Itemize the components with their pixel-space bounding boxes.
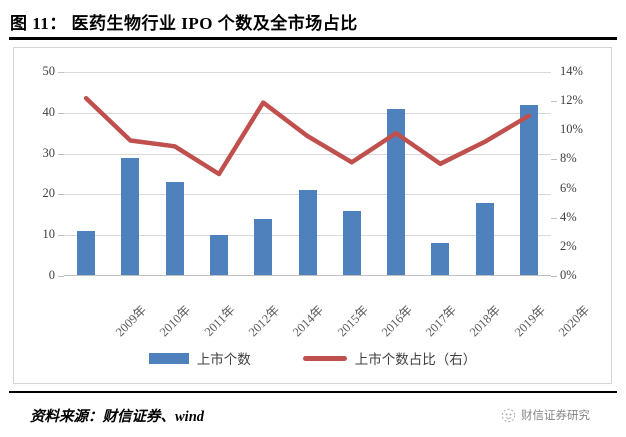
title-divider — [9, 37, 617, 40]
chart-container: 01020304050 0%2%4%6%8%10%12%14% 2009年201… — [13, 47, 612, 384]
y-tick-mark-right — [551, 218, 557, 219]
watermark: 财信证券研究 — [501, 407, 590, 423]
x-tick-label-2019: 2019年 — [509, 300, 549, 340]
x-tick-label-2018: 2018年 — [464, 300, 504, 340]
footer-divider — [9, 391, 617, 393]
legend-item-1[interactable]: 上市个数 — [149, 348, 251, 368]
y-tick-label-left: 50 — [43, 65, 56, 78]
legend-bar-swatch-icon — [149, 353, 189, 364]
y-tick-label-right: 2% — [560, 240, 577, 253]
y-tick-mark-right — [551, 276, 557, 277]
page-title: 图 11： 医药生物行业 IPO 个数及全市场占比 — [10, 9, 358, 34]
line-path — [86, 98, 529, 174]
watermark-label: 财信证券研究 — [521, 407, 590, 423]
y-tick-label-right: 6% — [560, 182, 577, 195]
y-tick-label-right: 12% — [560, 94, 583, 107]
y-tick-label-left: 30 — [43, 147, 56, 160]
logo-icon — [501, 408, 516, 423]
x-tick-label-2014: 2014年 — [287, 300, 327, 340]
x-tick-label-2012: 2012年 — [243, 300, 283, 340]
y-tick-label-right: 8% — [560, 152, 577, 165]
x-tick-label-2011: 2011年 — [199, 300, 239, 340]
legend-item-2[interactable]: 上市个数占比（右） — [303, 348, 477, 368]
legend-line-swatch-icon — [303, 356, 347, 361]
y-tick-mark-right — [551, 101, 557, 102]
y-tick-label-right: 10% — [560, 123, 583, 136]
x-axis-line — [64, 275, 551, 276]
y-tick-label-left: 10 — [43, 228, 56, 241]
y-tick-mark-left — [58, 276, 64, 277]
x-tick-label-2020: 2020年 — [553, 300, 593, 340]
x-tick-label-2016: 2016年 — [376, 300, 416, 340]
y-tick-label-right: 14% — [560, 65, 583, 78]
legend-label: 上市个数占比（右） — [355, 348, 477, 368]
figure-footer: 资料来源：财信证券、wind 财信证券研究 — [30, 398, 590, 432]
x-tick-label-2015: 2015年 — [331, 300, 371, 340]
figure-title-row: 图 11： 医药生物行业 IPO 个数及全市场占比 — [10, 4, 616, 38]
y-tick-label-left: 40 — [43, 106, 56, 119]
y-tick-label-left: 20 — [43, 187, 56, 200]
x-tick-label-2009: 2009年 — [110, 300, 150, 340]
x-tick-label-2010: 2010年 — [154, 300, 194, 340]
line-series — [64, 72, 551, 276]
y-tick-label-right: 4% — [560, 211, 577, 224]
y-tick-label-right: 0% — [560, 269, 577, 282]
y-tick-mark-right — [551, 159, 557, 160]
legend-label: 上市个数 — [197, 348, 251, 368]
y-tick-label-left: 0 — [49, 269, 55, 282]
x-tick-label-2017: 2017年 — [420, 300, 460, 340]
source-note: 资料来源：财信证券、wind — [30, 405, 204, 426]
plot-area: 01020304050 0%2%4%6%8%10%12%14% — [64, 72, 551, 276]
chart-legend: 上市个数上市个数占比（右） — [14, 348, 611, 368]
